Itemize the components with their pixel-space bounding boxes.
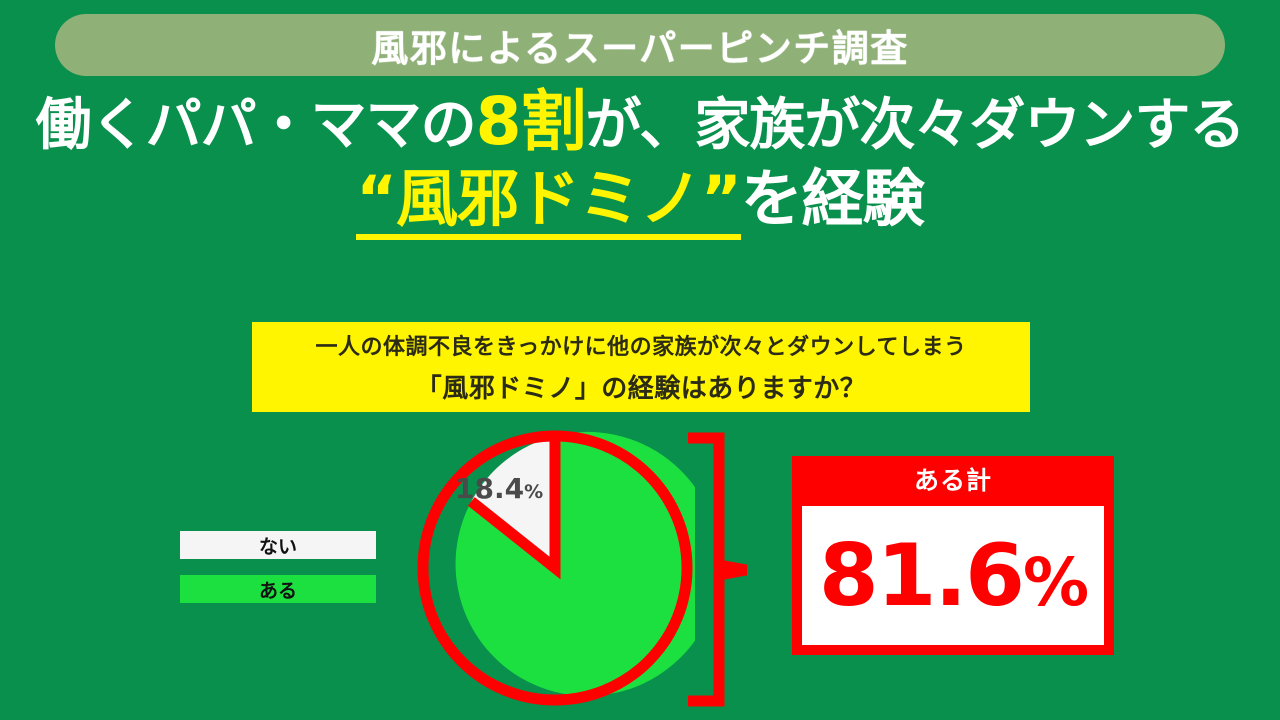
legend-item-aru-label: ある	[259, 576, 297, 603]
result-card-unit: %	[1023, 544, 1087, 621]
question-line-2: 「風邪ドミノ」の経験はありますか？	[416, 368, 867, 405]
headline-line1-part1: 働くパパ・ママの	[36, 93, 476, 158]
legend-item-nai-label: ない	[259, 532, 297, 559]
question-box: 一人の体調不良をきっかけに他の家族が次々とダウンしてしまう 「風邪ドミノ」の経験…	[252, 322, 1030, 412]
brace-connector	[686, 432, 756, 707]
headline-block: 働くパパ・ママの8割が、家族が次々ダウンする “風邪ドミノ”を経験	[0, 92, 1280, 240]
result-card-body: 81.6%	[802, 506, 1104, 645]
pie-chart	[415, 428, 695, 708]
headline-highlight-8wari: 8割	[476, 83, 586, 160]
header-banner-title: 風邪によるスーパーピンチ調査	[371, 18, 909, 72]
legend-item-aru: ある	[180, 575, 376, 603]
headline-line2-tail: を経験	[741, 162, 924, 235]
chart-legend: ない ある	[180, 531, 376, 603]
result-card: ある計 81.6%	[792, 456, 1114, 655]
headline-line1-part2: が、家族が次々ダウンする	[586, 93, 1245, 158]
infographic-canvas: 風邪によるスーパーピンチ調査 働くパパ・ママの8割が、家族が次々ダウンする “風…	[0, 0, 1280, 720]
question-line-1: 一人の体調不良をきっかけに他の家族が次々とダウンしてしまう	[316, 329, 967, 361]
headline-quoted-term: “風邪ドミノ”	[356, 168, 741, 240]
headline-line-2: “風邪ドミノ”を経験	[0, 168, 1280, 240]
result-card-value-wrap: 81.6%	[819, 533, 1087, 619]
legend-item-nai: ない	[180, 531, 376, 559]
brace-path	[688, 438, 746, 701]
pie-slice-label-nai: 18.4%	[455, 472, 543, 505]
headline-line-1: 働くパパ・ママの8割が、家族が次々ダウンする	[0, 92, 1280, 154]
header-banner: 風邪によるスーパーピンチ調査	[55, 14, 1225, 76]
pie-slice-label-unit: %	[524, 481, 543, 503]
pie-chart-svg	[415, 428, 695, 708]
brace-connector-svg	[686, 432, 756, 707]
result-card-header: ある計	[792, 456, 1114, 502]
result-card-value: 81.6	[819, 526, 1023, 626]
pie-slice-label-value: 18.4	[455, 472, 524, 505]
